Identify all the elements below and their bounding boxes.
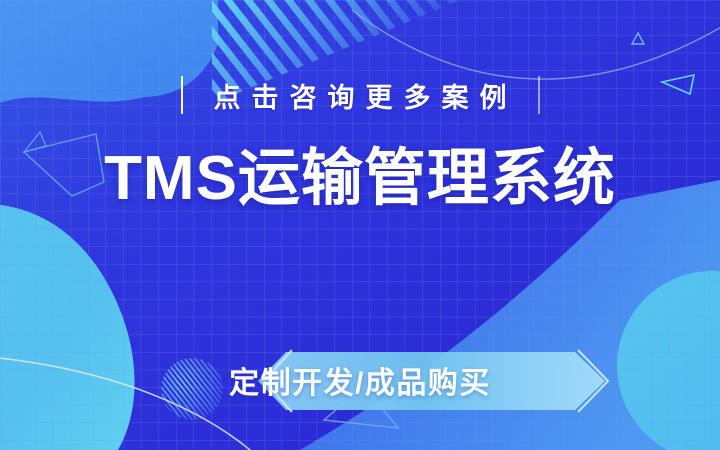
kicker: 点击咨询更多案例: [0, 72, 720, 118]
arc-top: [352, 10, 720, 79]
kicker-text: 点击咨询更多案例: [203, 76, 518, 115]
page-title: TMS运输管理系统: [0, 146, 720, 212]
bottom-left-blob: [0, 204, 135, 450]
triangle-outline-top: [632, 33, 644, 44]
promo-poster: 点击咨询更多案例 TMS运输管理系统 定制开发/成品购买: [0, 0, 720, 450]
ribbon-label: 定制开发/成品购买: [0, 349, 720, 411]
divider-bar-left: [181, 76, 183, 114]
divider-bar-right: [538, 76, 540, 114]
